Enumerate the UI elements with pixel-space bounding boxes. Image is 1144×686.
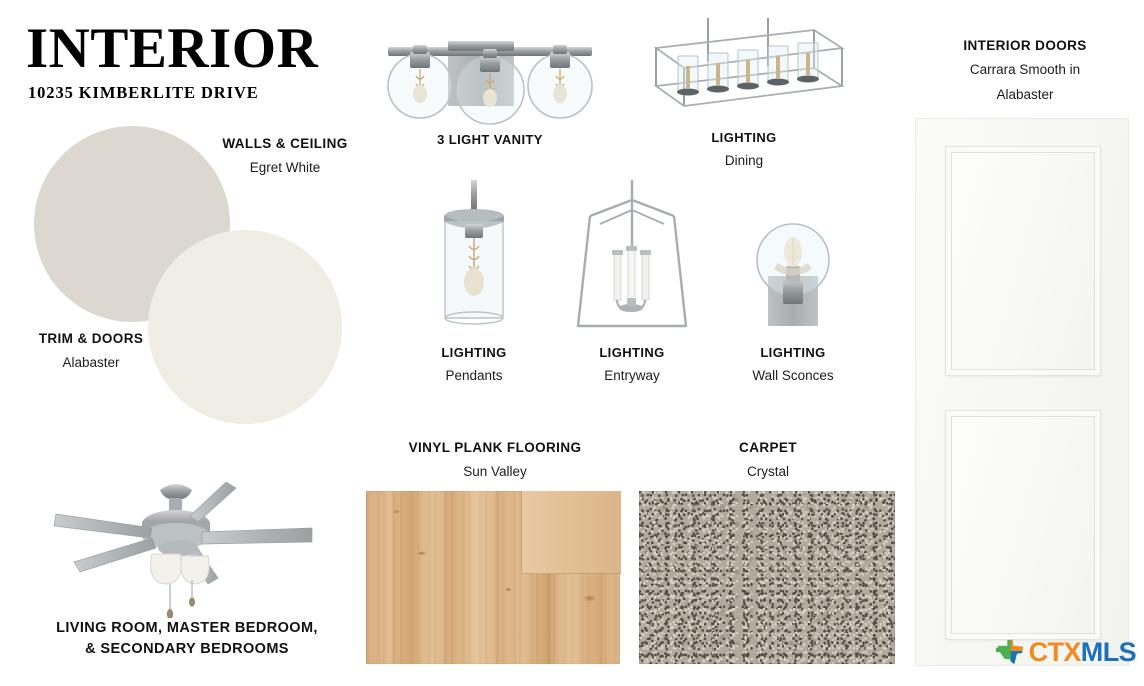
pendant-subtitle: Pendants: [400, 368, 548, 385]
ctxmls-logo: CTXMLS: [996, 630, 1136, 674]
vinyl-plank-seam: [521, 491, 621, 574]
walls-ceiling-title: WALLS & CEILING: [205, 136, 365, 152]
vinyl-title: VINYL PLANK FLOORING: [372, 440, 618, 456]
vinyl-name: Sun Valley: [372, 464, 618, 481]
interior-doors-name-line1: Carrara Smooth in: [920, 62, 1130, 79]
entryway-subtitle: Entryway: [558, 368, 706, 385]
trim-doors-color-name: Alabaster: [16, 355, 166, 372]
vanity-caption: 3 LIGHT VANITY: [370, 132, 610, 148]
carpet-caption: CARPET Crystal: [690, 440, 846, 481]
sconce-caption: LIGHTING Wall Sconces: [718, 345, 868, 385]
ceiling-fan-icon: [40, 466, 340, 618]
property-address: 10235 KIMBERLITE DRIVE: [28, 83, 356, 103]
walls-ceiling-color-name: Egret White: [205, 160, 365, 177]
pendant-light-icon: [418, 180, 530, 336]
header-block: INTERIOR 10235 KIMBERLITE DRIVE: [26, 20, 356, 103]
trim-doors-title: TRIM & DOORS: [16, 331, 166, 347]
pendant-caption: LIGHTING Pendants: [400, 345, 548, 385]
logo-mls-text: MLS: [1081, 637, 1136, 667]
trim-doors-label: TRIM & DOORS Alabaster: [16, 331, 166, 372]
vinyl-caption: VINYL PLANK FLOORING Sun Valley: [372, 440, 618, 481]
carpet-swatch: [639, 491, 895, 664]
paint-swatch-alabaster: [148, 230, 342, 424]
texas-map-icon: [996, 636, 1026, 668]
fan-caption: LIVING ROOM, MASTER BEDROOM, & SECONDARY…: [22, 618, 352, 660]
dining-title: LIGHTING: [636, 130, 852, 146]
door-panel-top: [945, 146, 1101, 376]
vanity-light-icon: [370, 14, 610, 132]
ctxmls-wordmark: CTXMLS: [1029, 639, 1136, 666]
carpet-name: Crystal: [690, 464, 846, 481]
vinyl-plank-swatch: [366, 491, 620, 664]
lantern-light-icon: [572, 180, 692, 336]
fan-title-line1: LIVING ROOM, MASTER BEDROOM,: [22, 618, 352, 639]
wall-sconce-icon: [740, 204, 846, 334]
entryway-caption: LIGHTING Entryway: [558, 345, 706, 385]
sconce-title: LIGHTING: [718, 345, 868, 361]
interior-doors-title: INTERIOR DOORS: [920, 38, 1130, 54]
pendant-title: LIGHTING: [400, 345, 548, 361]
walls-ceiling-label: WALLS & CEILING Egret White: [205, 136, 365, 177]
dining-caption: LIGHTING Dining: [636, 130, 852, 170]
sconce-subtitle: Wall Sconces: [718, 368, 868, 385]
interior-doors-caption: INTERIOR DOORS Carrara Smooth in Alabast…: [920, 38, 1130, 104]
vanity-title: 3 LIGHT VANITY: [370, 132, 610, 148]
entryway-title: LIGHTING: [558, 345, 706, 361]
door-panel-bottom: [945, 410, 1101, 640]
linear-chandelier-icon: [636, 14, 852, 126]
fan-title-line2: & SECONDARY BEDROOMS: [22, 639, 352, 660]
carpet-title: CARPET: [690, 440, 846, 456]
logo-ctx-text: CTX: [1029, 637, 1081, 667]
dining-subtitle: Dining: [636, 153, 852, 170]
interior-doors-name-line2: Alabaster: [920, 87, 1130, 104]
page-title: INTERIOR: [26, 20, 356, 77]
interior-door-image: [915, 118, 1129, 666]
interior-selections-board: INTERIOR 10235 KIMBERLITE DRIVE WALLS & …: [0, 0, 1144, 686]
